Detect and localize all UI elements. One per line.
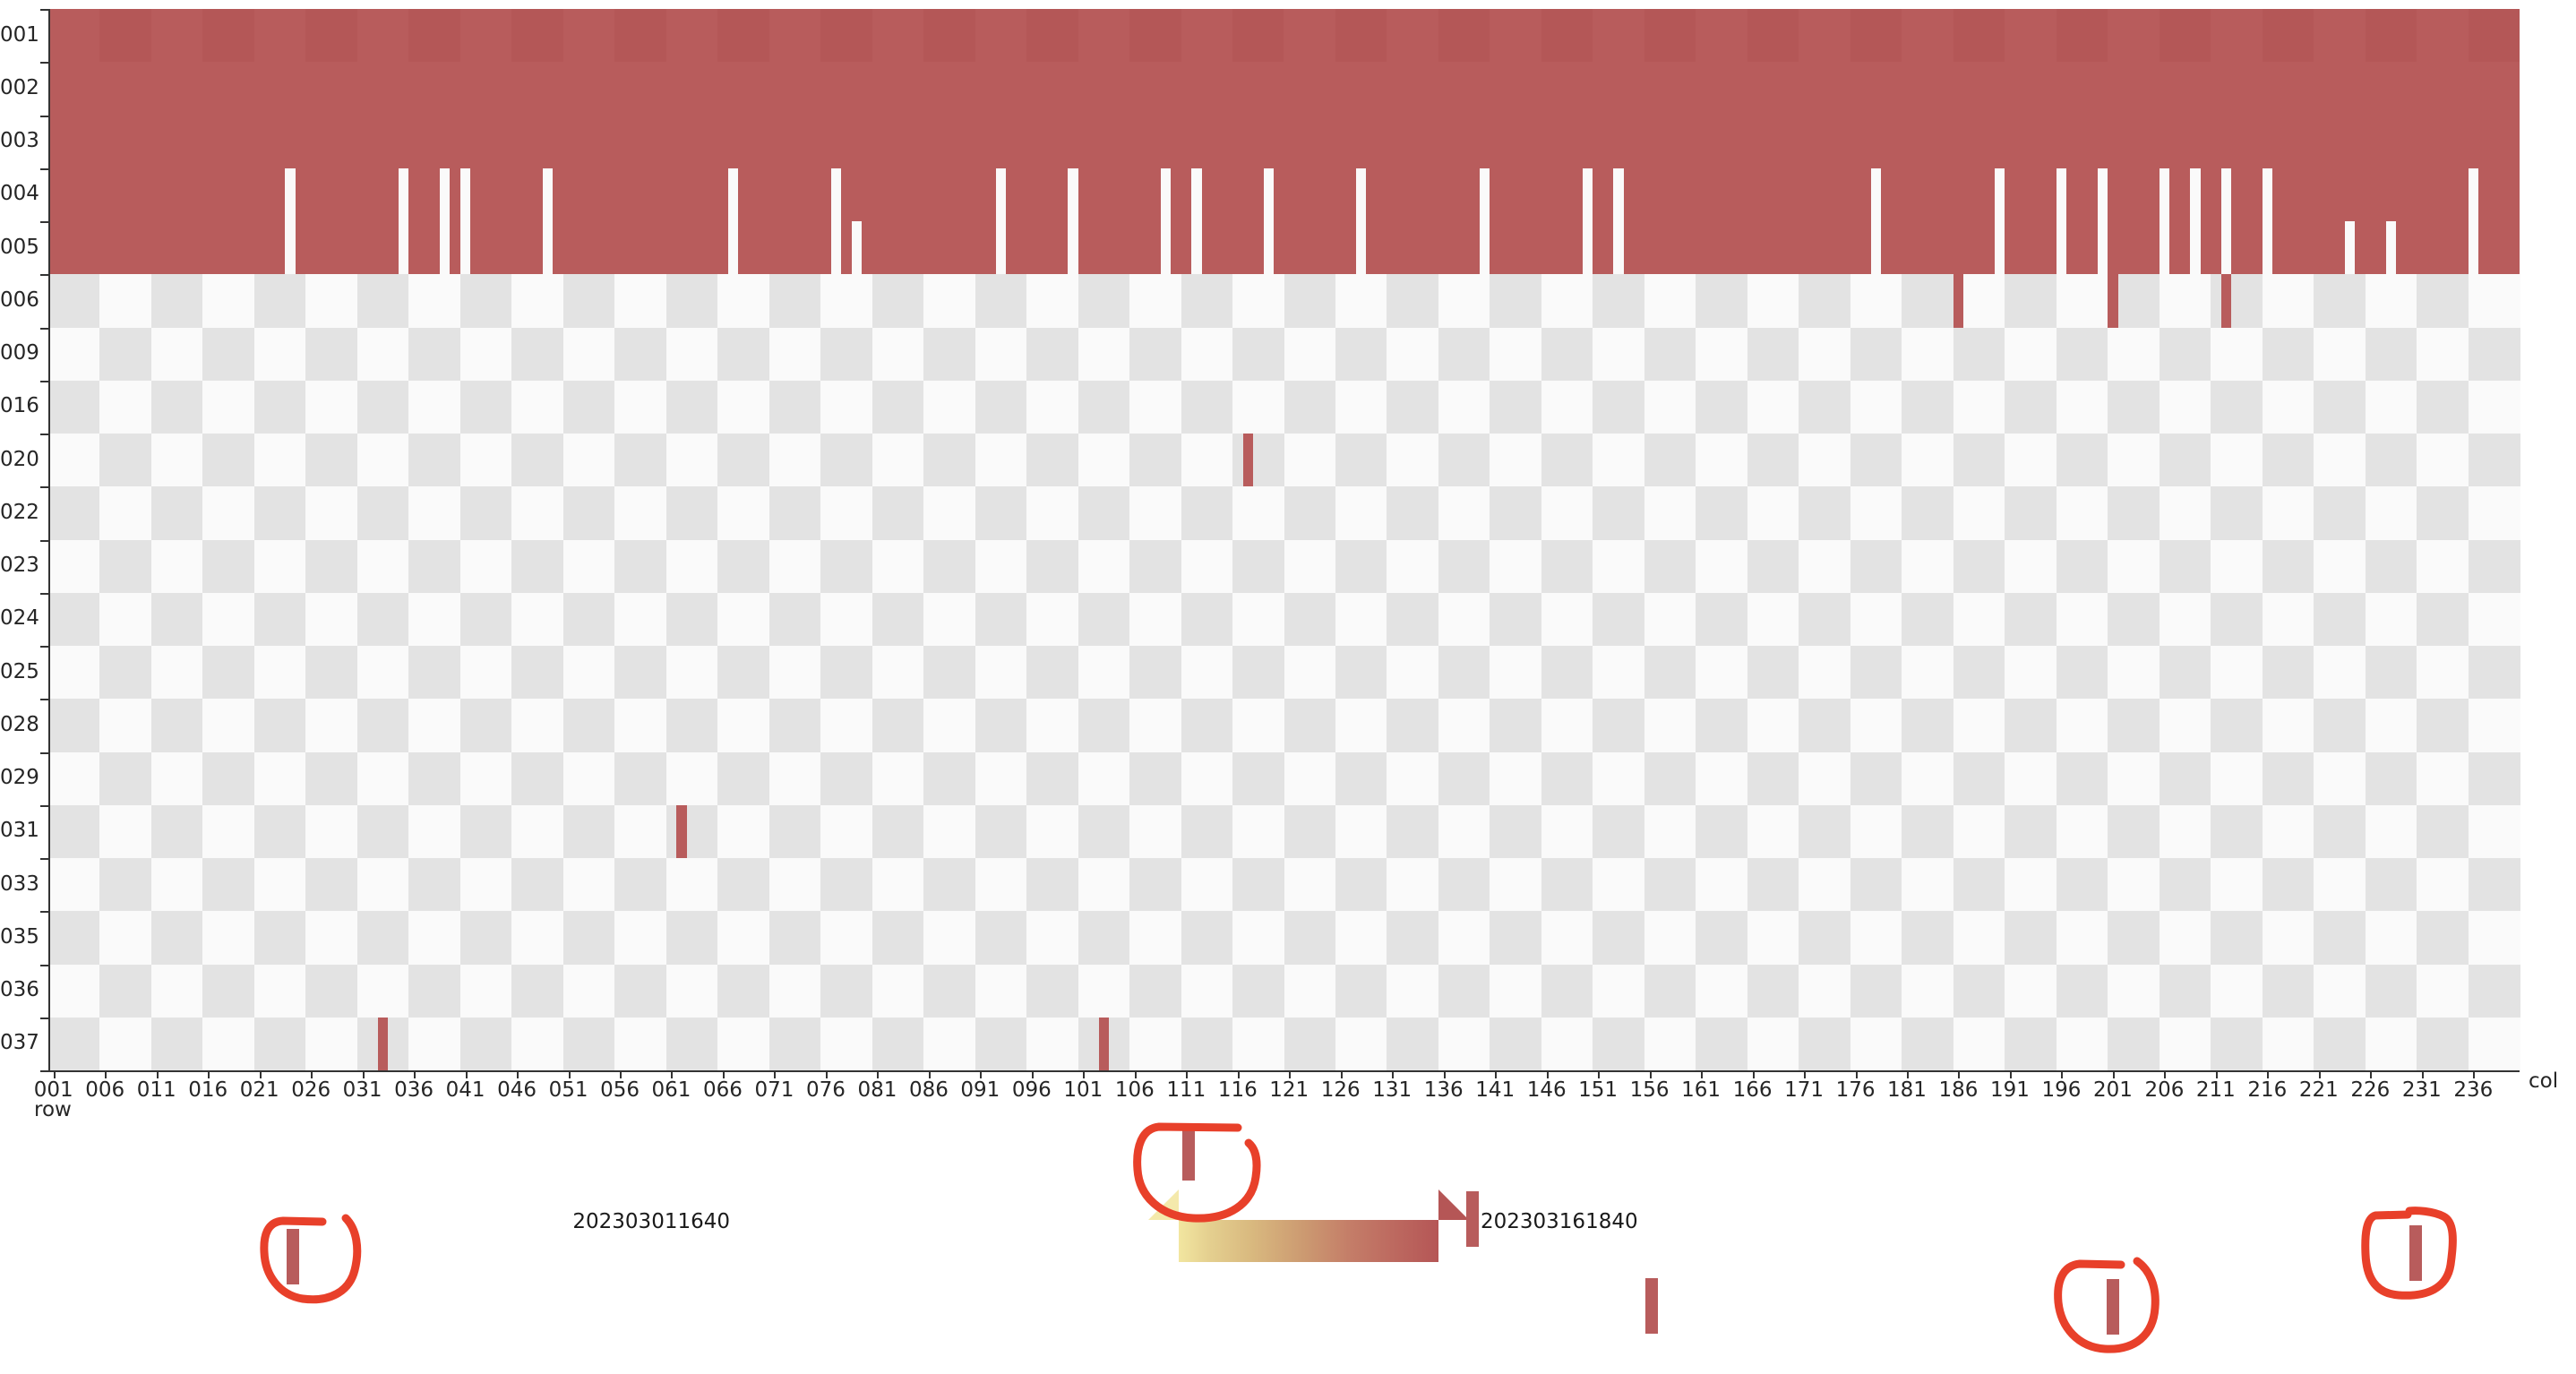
stray-bar-lower-center [1645,1278,1658,1334]
heatmap-background-cell [1850,434,1902,487]
heatmap-background-cell [1593,646,1644,700]
colorbar-extend-min-icon [1148,1189,1179,1220]
x-axis-tick [1392,1070,1394,1078]
x-axis-tick [2319,1070,2321,1078]
y-axis-tick [40,965,48,966]
heatmap-background-cell [2314,593,2366,647]
heatmap-background-cell [2263,752,2314,806]
heatmap-background-cell [202,646,254,700]
heatmap-background-cell [1850,699,1902,752]
heatmap-background-cell [2314,540,2366,594]
heatmap-background-cell [923,752,975,806]
heatmap-background-cell [2366,540,2417,594]
heatmap-background-cell [357,699,409,752]
heatmap-background-cell [2160,646,2211,700]
heatmap-background-cell [1078,699,1130,752]
heatmap-background-cell [1026,646,1078,700]
heatmap-background-cell [1335,752,1387,806]
heatmap-band-shade [202,9,253,62]
heatmap-background-cell [1902,1018,1953,1071]
heatmap-background-cell [1078,911,1130,965]
x-axis-tick [1444,1070,1446,1078]
heatmap-plot-area[interactable] [48,9,2520,1070]
heatmap-background-cell [1490,381,1541,434]
x-axis-tick-label: 116 [1218,1080,1258,1101]
heatmap-background-cell [1644,1018,1696,1071]
heatmap-background-cell [1387,434,1438,487]
heatmap-background-cell [769,911,821,965]
heatmap-background-cell [151,1018,203,1071]
heatmap-background-cell [202,434,254,487]
heatmap-background-cell [614,486,666,540]
heatmap-background-cell [1541,965,1593,1018]
heatmap-background-cell [2005,540,2057,594]
heatmap-background-cell [923,965,975,1018]
heatmap-background-cell [151,699,203,752]
heatmap-background-cell [1026,965,1078,1018]
x-axis-tick [2113,1070,2115,1078]
heatmap-background-cell [1026,593,1078,647]
heatmap-background-cell [48,699,100,752]
heatmap-background-cell [2160,858,2211,912]
heatmap-background-cell [717,965,769,1018]
heatmap-background-cell [1284,911,1336,965]
heatmap-background-cell [872,434,924,487]
heatmap-band-shade [99,9,150,62]
heatmap-background-cell [2314,274,2366,328]
heatmap-background-cell [2417,540,2469,594]
heatmap-background-cell [1078,274,1130,328]
x-axis-tick [54,1070,56,1078]
heatmap-background-cell [511,434,563,487]
heatmap-background-cell [460,911,512,965]
heatmap-background-cell [872,381,924,434]
heatmap-background-cell [1129,699,1181,752]
heatmap-background-cell [1232,805,1284,859]
x-axis-tick [1186,1070,1188,1078]
heatmap-band-shade [614,9,665,62]
heatmap-background-cell [2469,381,2520,434]
heatmap-band-shade [2366,9,2417,62]
x-axis-tick-label: 021 [240,1080,279,1101]
heatmap-background-cell [1902,381,1953,434]
heatmap-background-cell [1850,1018,1902,1071]
heatmap-background-cell [1747,965,1799,1018]
heatmap-background-cell [1438,381,1490,434]
heatmap-band-shade [1953,9,2005,62]
heatmap-background-cell [1129,911,1181,965]
x-axis-tick-label: 051 [549,1080,588,1101]
heatmap-background-cell [460,646,512,700]
heatmap-background-cell [1593,699,1644,752]
colorbar[interactable] [1179,1220,1438,1262]
heatmap-background-cell [254,1018,306,1071]
heatmap-background-cell [1850,965,1902,1018]
heatmap-background-cell [99,965,151,1018]
heatmap-background-cell [614,540,666,594]
heatmap-background-cell [2417,1018,2469,1071]
heatmap-background-cell [2314,381,2366,434]
heatmap-background-cell [305,274,357,328]
heatmap-background-cell [666,699,718,752]
y-axis-tick-label: 009 [0,343,36,364]
heatmap-background-cell [614,805,666,859]
heatmap-background-cell [254,699,306,752]
heatmap-background-cell [769,699,821,752]
heatmap-background-cell [2263,805,2314,859]
heatmap-background-cell [1181,593,1233,647]
heatmap-background-cell [2417,646,2469,700]
heatmap-background-cell [2469,911,2520,965]
y-axis-tick-label: 005 [0,237,36,258]
heatmap-filled-cell[interactable] [1953,274,1963,327]
heatmap-background-cell [1747,805,1799,859]
heatmap-background-cell [1438,486,1490,540]
heatmap-background-cell [1181,805,1233,859]
heatmap-gap-cell [728,168,738,275]
heatmap-background-cell [1747,858,1799,912]
heatmap-background-cell [1232,328,1284,382]
x-axis-tick [1650,1070,1652,1078]
heatmap-background-cell [614,274,666,328]
heatmap-background-cell [1438,752,1490,806]
heatmap-background-cell [1696,486,1747,540]
heatmap-background-cell [460,593,512,647]
heatmap-background-cell [151,752,203,806]
heatmap-background-cell [923,486,975,540]
heatmap-band-shade [305,9,356,62]
heatmap-background-cell [1850,381,1902,434]
heatmap-background-cell [2469,752,2520,806]
heatmap-background-cell [408,699,460,752]
heatmap-background-cell [820,593,872,647]
heatmap-filled-cell[interactable] [378,1018,388,1070]
heatmap-background-cell [305,752,357,806]
heatmap-background-cell [1232,858,1284,912]
heatmap-band-shade [1438,9,1490,62]
heatmap-background-cell [1232,752,1284,806]
heatmap-background-cell [2366,752,2417,806]
heatmap-background-cell [357,540,409,594]
y-axis-tick [40,699,48,700]
heatmap-background-cell [2314,486,2366,540]
heatmap-background-cell [1747,434,1799,487]
heatmap-background-cell [254,911,306,965]
x-axis-tick [723,1070,725,1078]
stray-bar-right-center [2107,1279,2119,1335]
heatmap-background-cell [460,699,512,752]
heatmap-background-cell [666,752,718,806]
heatmap-background-cell [1335,593,1387,647]
heatmap-background-cell [1593,752,1644,806]
heatmap-background-cell [872,805,924,859]
heatmap-background-cell [2366,1018,2417,1071]
x-axis-tick-label: 136 [1424,1080,1464,1101]
heatmap-background-cell [1696,274,1747,328]
heatmap-background-cell [923,434,975,487]
heatmap-background-cell [2160,381,2211,434]
heatmap-background-cell [1747,274,1799,328]
heatmap-background-cell [2366,911,2417,965]
heatmap-background-cell [563,434,615,487]
heatmap-background-cell [2417,434,2469,487]
heatmap-background-cell [666,646,718,700]
heatmap-background-cell [1902,752,1953,806]
heatmap-background-cell [1593,965,1644,1018]
heatmap-background-cell [1129,1018,1181,1071]
heatmap-background-cell [2314,805,2366,859]
heatmap-background-cell [1181,646,1233,700]
heatmap-background-cell [357,274,409,328]
heatmap-background-cell [408,540,460,594]
x-axis-tick [1907,1070,1909,1078]
heatmap-band-shade [2263,9,2314,62]
x-axis-tick-label: 131 [1372,1080,1412,1101]
heatmap-background-cell [2263,1018,2314,1071]
heatmap-background-cell [717,752,769,806]
heatmap-background-cell [1644,381,1696,434]
heatmap-gap-cell [2263,168,2272,275]
x-axis-tick-label: 216 [2247,1080,2287,1101]
heatmap-background-cell [1902,593,1953,647]
heatmap-background-cell [99,858,151,912]
heatmap-background-cell [975,752,1027,806]
heatmap-background-cell [872,1018,924,1071]
heatmap-background-cell [1953,328,2005,382]
heatmap-background-cell [357,486,409,540]
heatmap-background-cell [1644,328,1696,382]
heatmap-background-cell [1232,434,1284,487]
heatmap-background-cell [1438,646,1490,700]
heatmap-background-cell [1541,486,1593,540]
heatmap-background-cell [2005,1018,2057,1071]
stray-bar-left [287,1229,299,1284]
x-axis-tick [980,1070,982,1078]
heatmap-background-cell [511,699,563,752]
heatmap-background-cell [1593,328,1644,382]
heatmap-background-cell [2160,486,2211,540]
y-axis-tick-label: 001 [0,25,36,46]
x-axis-tick-label: 096 [1012,1080,1052,1101]
heatmap-gap-cell [1068,168,1078,275]
heatmap-gap-cell [1871,168,1881,275]
heatmap-background-cell [460,1018,512,1071]
heatmap-background-cell [305,381,357,434]
heatmap-background-cell [820,381,872,434]
heatmap-figure: 0010020030040050060090160200220230240250… [0,0,2576,1374]
heatmap-background-cell [2417,805,2469,859]
heatmap-background-cell [2211,274,2263,328]
heatmap-background-cell [2005,752,2057,806]
heatmap-background-cell [1284,381,1336,434]
x-axis-tick-label: 176 [1836,1080,1876,1101]
heatmap-background-cell [1026,858,1078,912]
heatmap-background-cell [1284,593,1336,647]
x-axis-tick-label: 161 [1681,1080,1721,1101]
heatmap-filled-cell[interactable] [1099,1018,1109,1070]
heatmap-background-cell [2417,699,2469,752]
heatmap-background-cell [1078,328,1130,382]
y-axis-tick [40,62,48,64]
heatmap-background-cell [2314,646,2366,700]
heatmap-background-cell [99,593,151,647]
heatmap-background-cell [2005,274,2057,328]
heatmap-background-cell [1747,646,1799,700]
heatmap-background-cell [1284,805,1336,859]
heatmap-background-cell [2005,911,2057,965]
heatmap-background-cell [2108,911,2160,965]
heatmap-background-cell [99,911,151,965]
heatmap-background-cell [563,486,615,540]
heatmap-background-cell [305,911,357,965]
heatmap-background-cell [1181,540,1233,594]
heatmap-background-cell [1953,434,2005,487]
heatmap-background-cell [305,858,357,912]
heatmap-background-cell [1747,328,1799,382]
heatmap-gap-cell [2190,168,2200,275]
x-axis-tick [1032,1070,1034,1078]
heatmap-background-cell [2417,858,2469,912]
x-axis-tick-label: 016 [188,1080,228,1101]
heatmap-background-cell [769,593,821,647]
heatmap-gap-cell [2098,168,2108,275]
heatmap-background-cell [2417,486,2469,540]
heatmap-background-cell [1284,1018,1336,1071]
heatmap-background-cell [872,540,924,594]
heatmap-background-cell [2005,381,2057,434]
heatmap-background-cell [1902,434,1953,487]
heatmap-background-cell [1490,274,1541,328]
heatmap-background-cell [1387,593,1438,647]
heatmap-background-cell [408,858,460,912]
heatmap-filled-cell[interactable] [1243,434,1253,486]
heatmap-background-cell [511,911,563,965]
y-axis-tick-label: 029 [0,768,36,788]
heatmap-background-cell [2005,699,2057,752]
y-axis-tick-label: 022 [0,502,36,523]
heatmap-background-cell [1953,593,2005,647]
x-axis-tick [2422,1070,2424,1078]
x-axis-tick-label: 106 [1115,1080,1155,1101]
x-axis-tick [260,1070,262,1078]
y-axis-tick-label: 024 [0,608,36,629]
heatmap-background-cell [1284,965,1336,1018]
heatmap-background-cell [1387,699,1438,752]
x-axis-tick [877,1070,879,1078]
heatmap-background-cell [820,540,872,594]
heatmap-filled-cell[interactable] [2221,274,2231,327]
heatmap-background-cell [1850,486,1902,540]
heatmap-background-cell [2160,805,2211,859]
heatmap-background-cell [1593,858,1644,912]
heatmap-background-cell [1284,646,1336,700]
heatmap-background-cell [1129,381,1181,434]
heatmap-background-cell [1129,274,1181,328]
heatmap-background-cell [1490,911,1541,965]
heatmap-background-cell [305,1018,357,1071]
heatmap-filled-cell[interactable] [676,805,686,858]
heatmap-background-cell [2057,328,2108,382]
heatmap-background-cell [1644,274,1696,328]
heatmap-background-cell [923,381,975,434]
heatmap-background-cell [563,328,615,382]
y-axis-tick-label: 036 [0,980,36,1000]
heatmap-background-cell [2366,328,2417,382]
heatmap-background-cell [2417,593,2469,647]
heatmap-background-cell [1541,274,1593,328]
heatmap-background-cell [1335,699,1387,752]
y-axis-tick [40,381,48,382]
heatmap-background-cell [1181,752,1233,806]
heatmap-background-cell [511,593,563,647]
heatmap-background-cell [305,540,357,594]
heatmap-background-cell [1284,752,1336,806]
heatmap-background-cell [48,274,100,328]
heatmap-background-cell [1129,593,1181,647]
heatmap-background-cell [820,1018,872,1071]
heatmap-background-cell [1026,381,1078,434]
heatmap-background-cell [1902,540,1953,594]
heatmap-background-cell [1902,274,1953,328]
heatmap-background-cell [1799,486,1850,540]
heatmap-background-cell [460,858,512,912]
heatmap-background-cell [1799,752,1850,806]
x-axis-tick-label: 181 [1887,1080,1927,1101]
heatmap-background-cell [1490,805,1541,859]
x-axis-tick-label: 151 [1578,1080,1618,1101]
heatmap-background-cell [872,858,924,912]
x-axis-tick-label: 231 [2402,1080,2442,1101]
heatmap-background-cell [305,646,357,700]
heatmap-background-cell [2005,805,2057,859]
x-axis-tick [1341,1070,1343,1078]
heatmap-background-cell [1490,646,1541,700]
heatmap-background-cell [305,486,357,540]
heatmap-background-cell [1850,593,1902,647]
heatmap-background-cell [1953,965,2005,1018]
heatmap-background-cell [1850,540,1902,594]
heatmap-background-cell [1593,540,1644,594]
y-axis-spine [48,9,50,1072]
heatmap-background-cell [99,1018,151,1071]
heatmap-background-cell [769,646,821,700]
heatmap-background-cell [614,752,666,806]
heatmap-background-cell [1541,593,1593,647]
heatmap-background-cell [2005,486,2057,540]
heatmap-background-cell [717,486,769,540]
x-axis-tick-label: 061 [652,1080,691,1101]
stray-bar-center [1182,1125,1195,1181]
heatmap-background-cell [820,646,872,700]
heatmap-background-cell [1593,805,1644,859]
heatmap-background-cell [1335,486,1387,540]
heatmap-background-cell [1541,434,1593,487]
x-axis-tick [671,1070,673,1078]
heatmap-background-cell [1284,328,1336,382]
heatmap-background-cell [1902,911,1953,965]
heatmap-background-cell [1902,486,1953,540]
heatmap-background-cell [1181,1018,1233,1071]
heatmap-background-cell [923,328,975,382]
heatmap-background-cell [151,593,203,647]
heatmap-background-cell [1438,434,1490,487]
heatmap-background-cell [305,699,357,752]
heatmap-filled-cell[interactable] [2108,274,2117,327]
y-axis-tick [40,752,48,754]
heatmap-background-cell [1953,1018,2005,1071]
heatmap-background-cell [666,1018,718,1071]
x-axis-tick-label: 036 [394,1080,434,1101]
